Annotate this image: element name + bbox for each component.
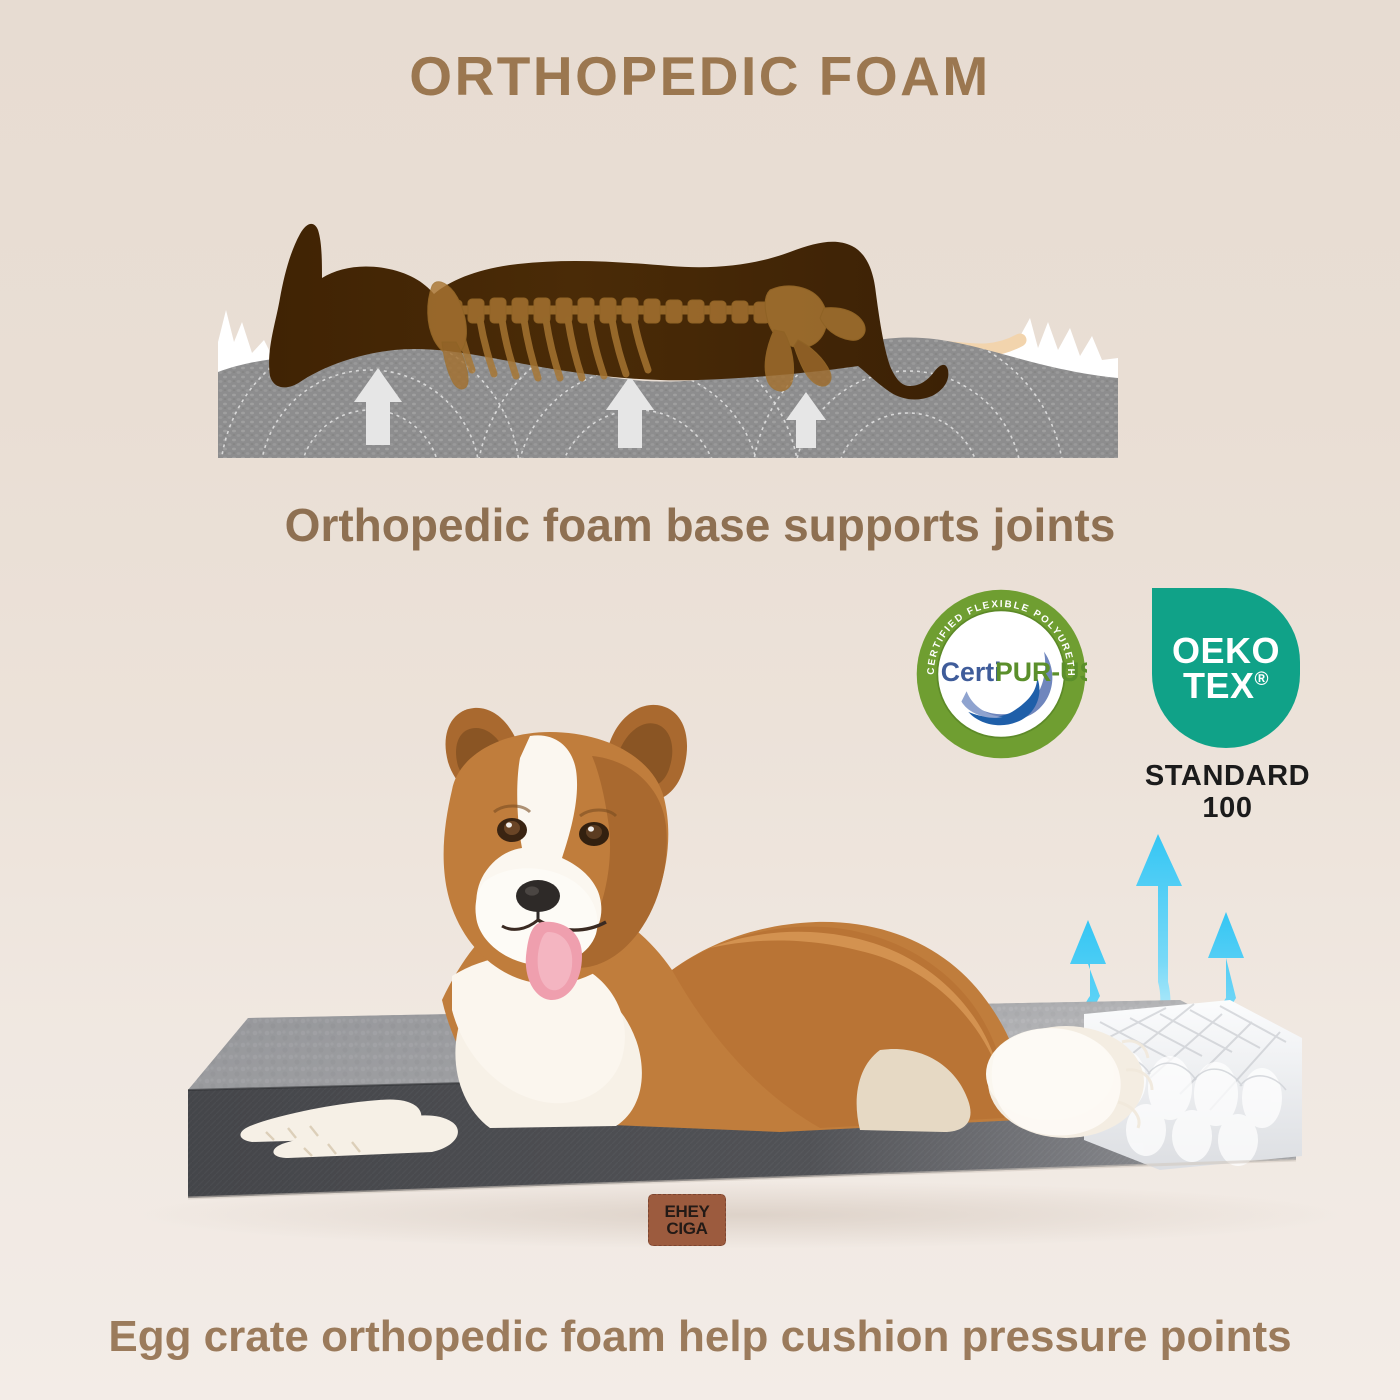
page-title: ORTHOPEDIC FOAM: [0, 44, 1400, 108]
caption-egg-crate-foam: Egg crate orthopedic foam help cushion p…: [0, 1312, 1400, 1362]
oeko-tex-line1: OEKO: [1172, 633, 1280, 668]
caption-orthopedic-support: Orthopedic foam base supports joints: [0, 498, 1400, 552]
orthopedic-support-illustration: [218, 190, 1118, 480]
infographic-canvas: ORTHOPEDIC FOAM: [0, 0, 1400, 1400]
brand-line1: EHEY: [664, 1203, 709, 1220]
brand-logo-tag: EHEY CIGA: [648, 1194, 726, 1246]
brand-line2: CIGA: [666, 1220, 707, 1237]
